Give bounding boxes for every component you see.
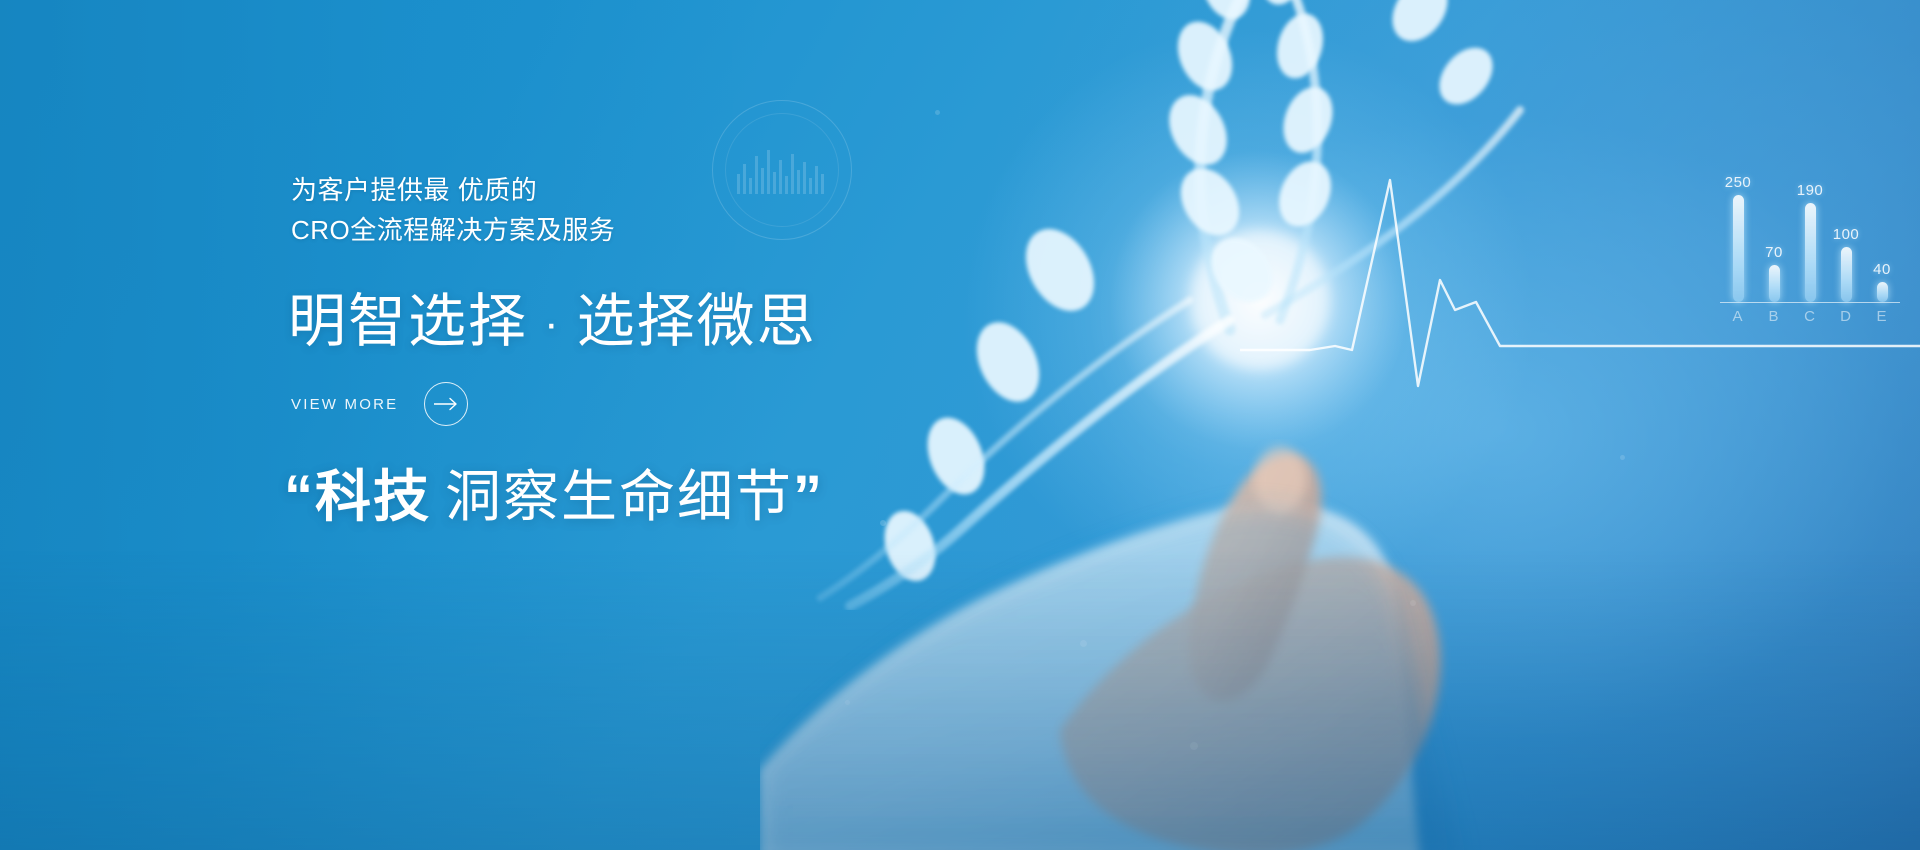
hero-headline: 明智选择·选择微思 — [288, 274, 817, 358]
bar-column: 100 — [1831, 174, 1861, 302]
bar-column: 250 — [1723, 174, 1753, 302]
headline-separator: · — [528, 299, 577, 348]
particle — [1410, 600, 1416, 606]
bar-value-label: 250 — [1725, 174, 1752, 191]
chart-bars: 250 70 190 100 40 — [1720, 174, 1900, 302]
chart-category-label: B — [1759, 308, 1789, 334]
particle — [1190, 742, 1198, 750]
bar-chart: 250 70 190 100 40 A B C D — [1714, 152, 1904, 337]
headline-right-text: 选择微思 — [577, 289, 817, 354]
bar-column: 190 — [1795, 174, 1825, 302]
hero-subtitle: 为客户提供最 优质的 CRO全流程解决方案及服务 — [291, 170, 615, 250]
hero-content: 为客户提供最 优质的 CRO全流程解决方案及服务 明智选择·选择微思 VIEW … — [291, 0, 1051, 850]
quote-light-text: 洞察生命细节 — [431, 465, 793, 528]
view-more-button[interactable]: VIEW MORE — [291, 382, 468, 426]
hero-subtitle-line-1: 为客户提供最 优质的 — [291, 170, 615, 210]
chart-category-labels: A B C D E — [1720, 308, 1900, 334]
quote-close-mark: ” — [793, 464, 824, 529]
quote-open-mark: “ — [284, 464, 315, 529]
bar-rect — [1769, 265, 1780, 302]
particle — [1620, 455, 1625, 460]
bar-rect — [1733, 195, 1744, 302]
chart-axis-line — [1720, 302, 1900, 303]
bar-rect — [1877, 282, 1888, 302]
bar-value-label: 70 — [1765, 244, 1783, 261]
arrow-right-icon[interactable] — [424, 382, 468, 426]
headline-left-text: 明智选择 — [288, 289, 528, 354]
bar-column: 70 — [1759, 174, 1789, 302]
hero-subtitle-line-2: CRO全流程解决方案及服务 — [291, 210, 615, 250]
bar-value-label: 100 — [1833, 226, 1860, 243]
bar-rect — [1805, 203, 1816, 302]
chart-category-label: E — [1867, 308, 1897, 334]
view-more-label: VIEW MORE — [291, 396, 398, 413]
bar-column: 40 — [1867, 174, 1897, 302]
bar-value-label: 40 — [1873, 261, 1891, 278]
hero-quote: “科技洞察生命细节” — [284, 452, 824, 533]
bar-value-label: 190 — [1797, 182, 1824, 199]
bar-rect — [1841, 247, 1852, 302]
particle — [1080, 640, 1087, 647]
chart-category-label: C — [1795, 308, 1825, 334]
chart-category-label: A — [1723, 308, 1753, 334]
hero-banner: 250 70 190 100 40 A B C D — [0, 0, 1920, 850]
quote-bold-text: 科技 — [315, 465, 431, 528]
chart-category-label: D — [1831, 308, 1861, 334]
